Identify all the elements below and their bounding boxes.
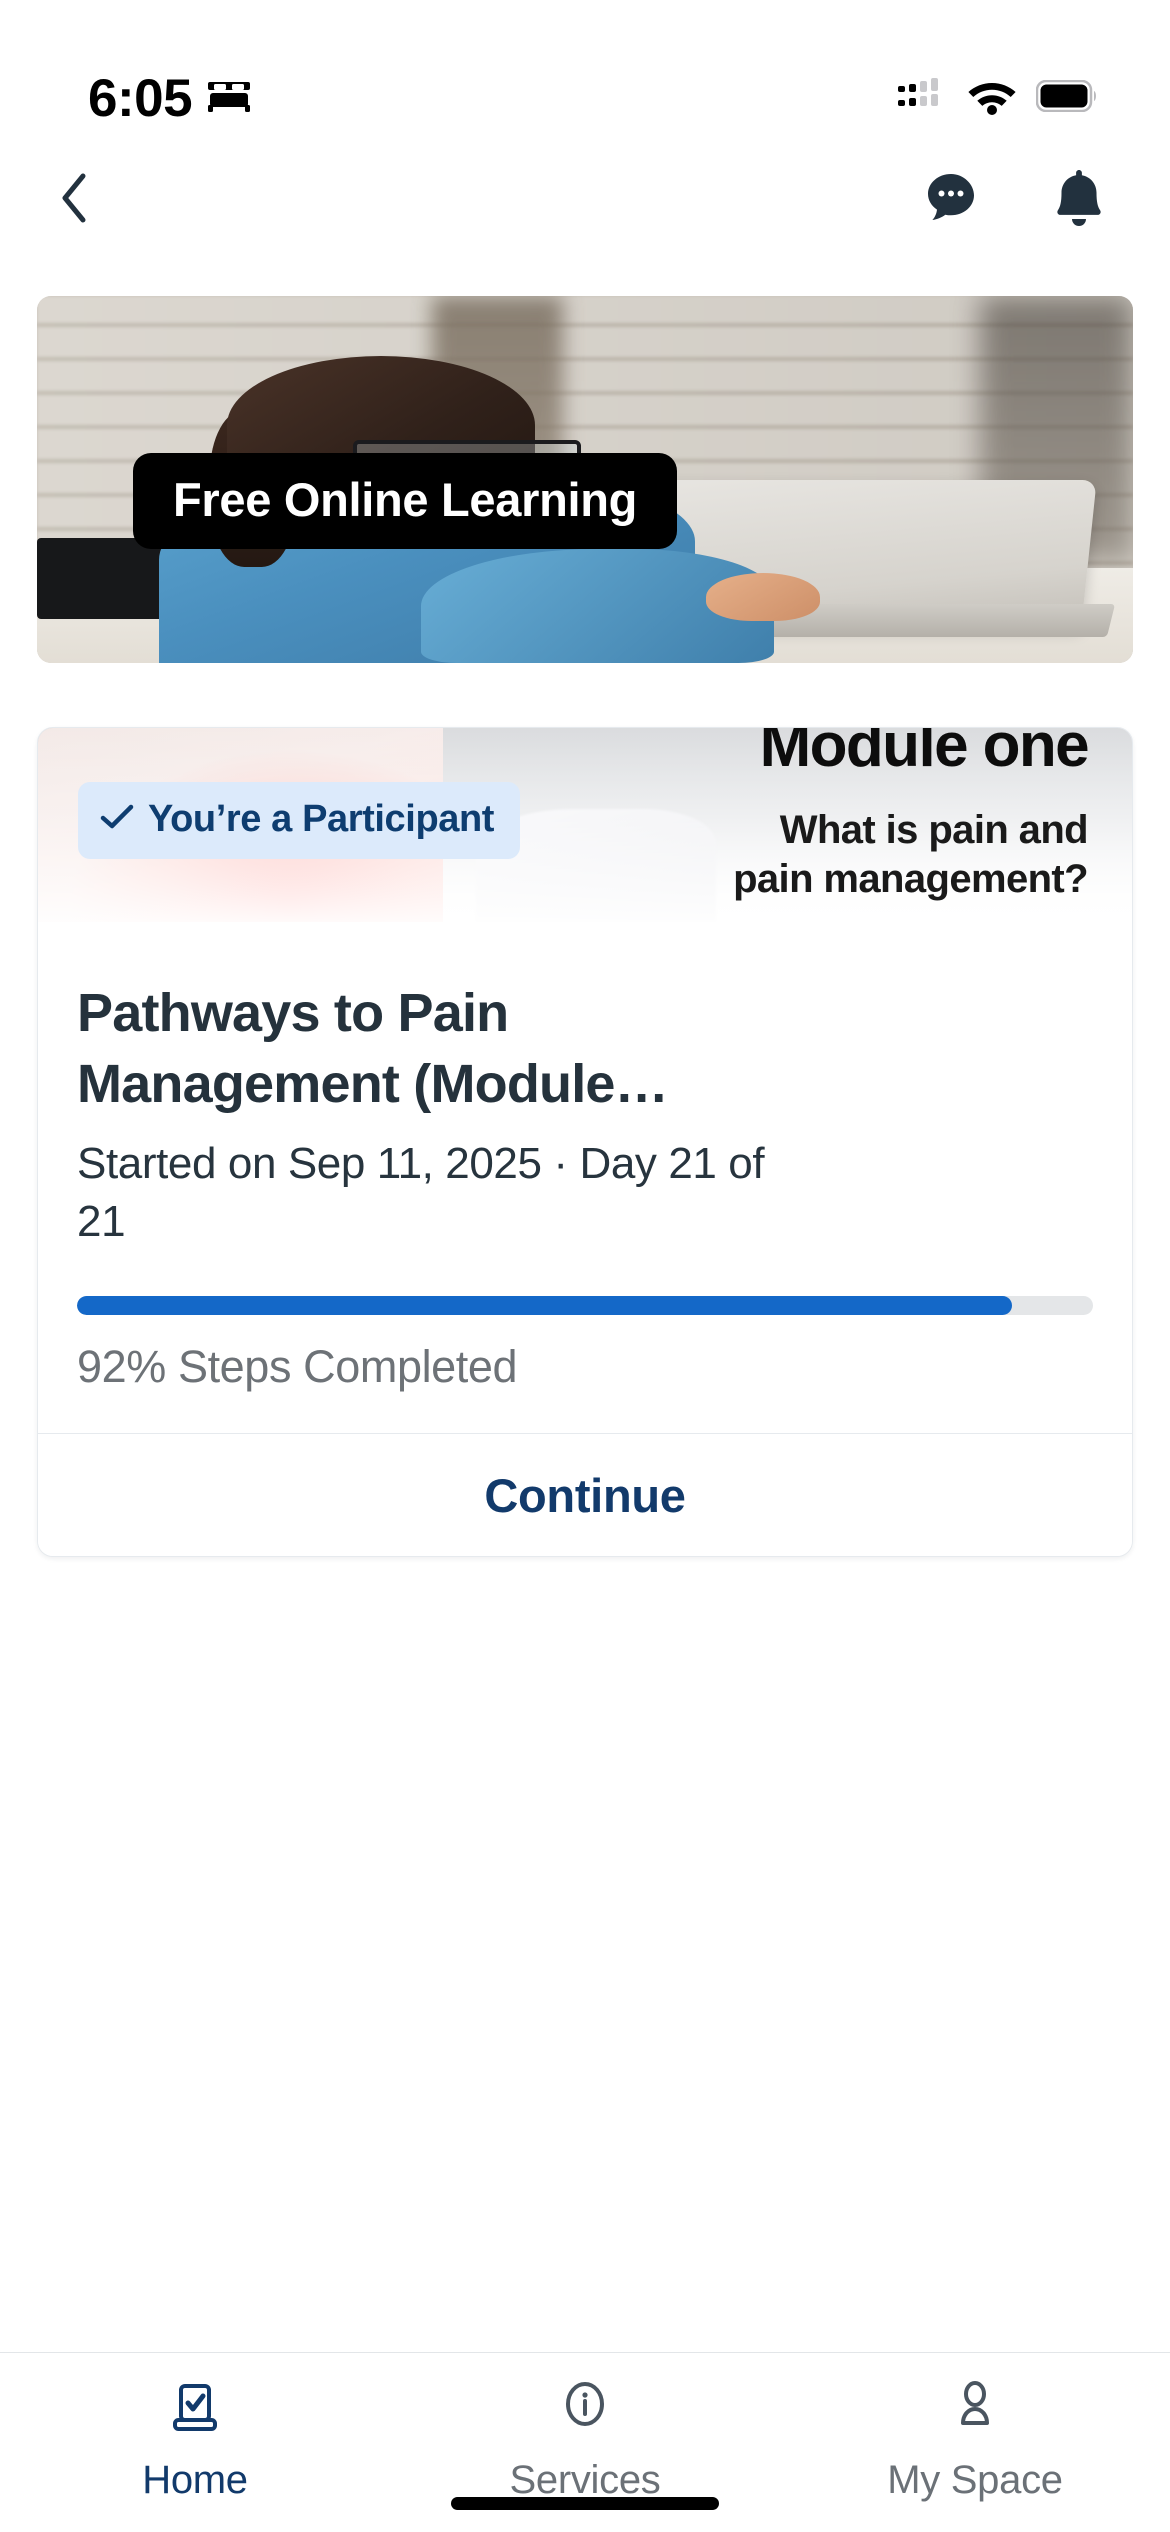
status-bar-left: 6:05 [88,68,252,129]
chevron-left-icon [52,170,98,231]
wifi-icon [966,77,1018,120]
home-indicator [451,2497,719,2510]
hero-person-hand [706,573,820,621]
tab-my-space-label: My Space [887,2458,1062,2503]
participant-status-badge: You’re a Participant [78,782,520,859]
progress-bar-fill [77,1296,1012,1315]
course-card-body: Pathways to Pain Management (Module… Sta… [38,922,1132,1433]
tab-my-space[interactable]: My Space [780,2379,1170,2503]
progress-label: 92% Steps Completed [77,1341,1093,1393]
course-title: Pathways to Pain Management (Module… [77,978,1093,1121]
hero-badge-label: Free Online Learning [133,453,677,549]
course-card[interactable]: Module one What is pain and pain managem… [37,727,1133,1557]
app-screen: 6:05 [0,0,1170,2532]
back-button[interactable] [40,165,110,235]
navigation-bar-actions [916,165,1114,235]
progress-bar-track [77,1296,1093,1315]
bottom-tab-bar: Home Services My Space [0,2352,1170,2532]
cellular-signal-icon [898,78,948,119]
chat-bubble-icon [921,168,981,233]
course-meta-line1: Started on Sep 11, 2025 · Day 21 of [77,1135,1093,1194]
bell-icon [1051,167,1107,234]
check-icon [100,798,134,841]
status-bar: 6:05 [0,0,1170,148]
tab-home-label: Home [142,2458,248,2503]
navigation-bar [0,148,1170,252]
course-cover-module-question-line1: What is pain and [733,806,1088,855]
status-bar-right [898,77,1098,120]
battery-icon [1036,80,1098,117]
tab-services[interactable]: Services [390,2379,780,2503]
course-meta: Started on Sep 11, 2025 · Day 21 of 21 [77,1135,1093,1253]
course-cover-module-question-line2: pain management? [733,855,1088,904]
status-time: 6:05 [88,68,192,129]
person-icon [946,2379,1004,2442]
course-title-line2: Management (Module… [77,1049,1093,1120]
hero-banner[interactable]: Free Online Learning [37,296,1133,663]
course-cover-module-question: What is pain and pain management? [733,806,1088,904]
course-card-cover: Module one What is pain and pain managem… [38,728,1132,922]
course-cover-module-heading: Module one [760,728,1088,781]
laptop-check-icon [166,2379,224,2442]
messages-button[interactable] [916,165,986,235]
continue-button[interactable]: Continue [38,1434,1132,1556]
course-meta-line2: 21 [77,1193,1093,1252]
info-circle-icon [556,2379,614,2442]
bed-icon [206,79,252,118]
participant-status-label: You’re a Participant [148,798,494,841]
course-title-line1: Pathways to Pain [77,978,1093,1049]
main-content: Free Online Learning Module one What is … [0,252,1170,1557]
notifications-button[interactable] [1044,165,1114,235]
tab-home[interactable]: Home [0,2379,390,2503]
